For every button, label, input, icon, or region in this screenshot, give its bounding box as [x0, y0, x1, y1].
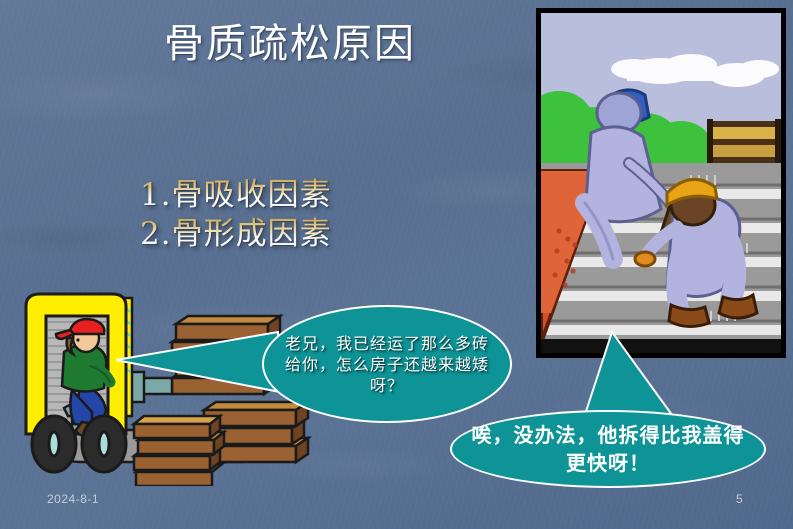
- roofer-speech-text: 唉，没办法，他拆得比我盖得更快呀！: [452, 421, 764, 477]
- footer-date: 2024-8-1: [47, 492, 99, 506]
- roofer-speech-bubble[interactable]: 唉，没办法，他拆得比我盖得更快呀！: [450, 410, 766, 488]
- list-item: 1.骨吸收因素: [140, 176, 332, 215]
- driver-speech-tail: [112, 330, 282, 440]
- driver-speech-bubble[interactable]: 老兄，我已经运了那么多砖给你，怎么房子还越来越矮呀？: [262, 305, 512, 423]
- footer-page-number: 5: [736, 492, 743, 506]
- bullet-list: 1.骨吸收因素 2.骨形成因素: [140, 176, 332, 254]
- list-item: 2.骨形成因素: [140, 215, 332, 254]
- roof-workers-photo: [536, 8, 786, 358]
- driver-speech-text: 老兄，我已经运了那么多砖给你，怎么房子还越来越矮呀？: [264, 333, 510, 396]
- page-title: 骨质疏松原因: [40, 18, 540, 70]
- roof-workers-illustration: [541, 13, 781, 353]
- slide-canvas: 骨质疏松原因 1.骨吸收因素 2.骨形成因素: [0, 0, 793, 529]
